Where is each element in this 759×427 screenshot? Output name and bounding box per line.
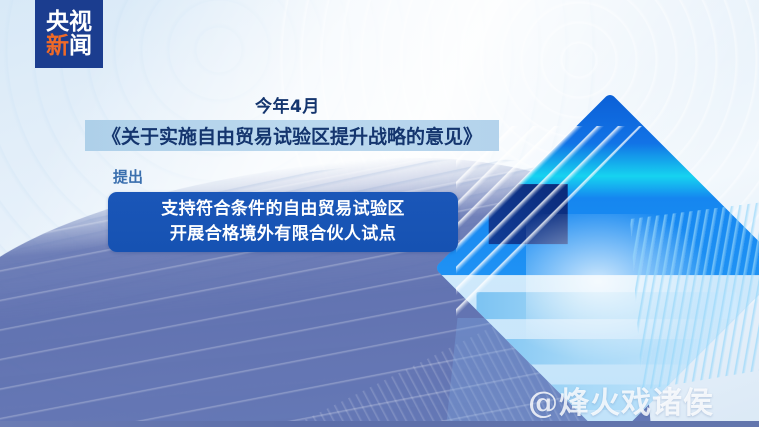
callout-line-1: 支持符合条件的自由贸易试验区	[161, 199, 405, 220]
logo-char-xin: 新	[46, 33, 69, 59]
logo-line-yangshi: 央视	[46, 11, 92, 34]
callout-line-2: 开展合格境外有限合伙人试点	[170, 224, 396, 245]
diamond-navy-wedge	[488, 184, 567, 244]
callout-box: 支持符合条件的自由贸易试验区 开展合格境外有限合伙人试点	[108, 192, 458, 252]
document-title-text: 《关于实施自由贸易试验区提升战略的意见》	[102, 122, 482, 149]
document-line-1	[476, 293, 737, 319]
logo-line-xinwen: 新闻	[46, 35, 92, 58]
cctv-news-logo: 央视 新闻	[35, 0, 103, 68]
news-graphic-slide: 央视 新闻 今年4月 《关于实施自由贸易试验区提升战略的意见》 提出 支持符合条…	[0, 0, 759, 427]
propose-label: 提出	[113, 166, 143, 187]
document-title-band: 《关于实施自由贸易试验区提升战略的意见》	[85, 120, 499, 151]
logo-char-wen: 闻	[69, 33, 92, 59]
bottom-strip	[0, 421, 759, 427]
document-line-2	[476, 338, 737, 364]
watermark-text: @烽火戏诸侯	[528, 378, 714, 422]
date-eyebrow: 今年4月	[255, 92, 320, 117]
diamond-document-graphic	[486, 144, 734, 392]
